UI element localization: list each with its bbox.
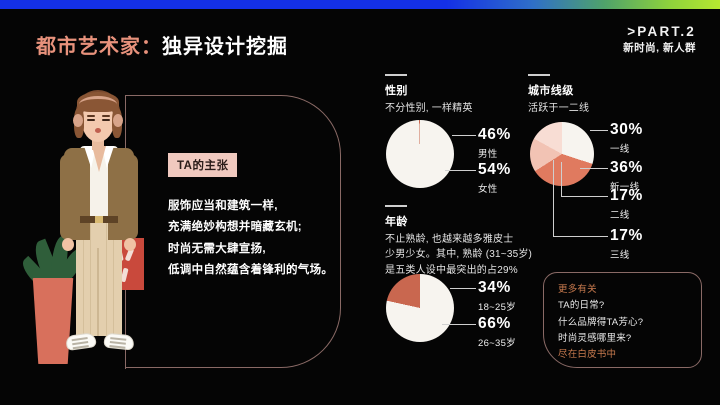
legend-item-age-18-25: 34% 18~25岁: [478, 280, 516, 313]
cta-line: 时尚灵感哪里来?: [558, 331, 701, 347]
leader-line: [580, 168, 608, 169]
stat-subtitle: 不分性别, 一样精英: [385, 101, 535, 117]
page-title: 都市艺术家：独异设计挖掘: [36, 30, 288, 59]
legend-label: 26~35岁: [478, 335, 516, 349]
leader-line: [450, 288, 476, 289]
figure-belt-buckle: [95, 216, 103, 223]
leader-line: [452, 135, 476, 136]
figure-jacket-right: [108, 148, 134, 240]
legend-label: 女性: [478, 181, 511, 195]
stat-heading: 年龄: [385, 213, 563, 229]
legend-percent: 54%: [478, 162, 511, 178]
quote-line: 时尚无需大肆宣扬,: [168, 239, 358, 260]
title-rest: 独异设计挖掘: [162, 36, 288, 58]
legend-label: 男性: [478, 146, 511, 160]
legend-label: 18~25岁: [478, 299, 516, 313]
cta-line: 尽在白皮书中: [558, 347, 701, 363]
legend-percent: 30%: [610, 122, 643, 138]
legend-item-gender-female: 54% 女性: [478, 162, 511, 195]
figure-hand-right: [124, 238, 136, 251]
legend-percent: 36%: [610, 160, 643, 176]
legend-percent: 34%: [478, 280, 516, 296]
slide-canvas: 都市艺术家：独异设计挖掘 >PART.2 新时尚, 新人群: [0, 0, 720, 405]
leader-line: [561, 196, 608, 197]
figure-eye-right: [102, 119, 110, 121]
legend-percent: 17%: [610, 188, 643, 204]
divider: [528, 74, 550, 76]
stat-heading: 性别: [385, 82, 535, 98]
leader-line: [590, 130, 608, 131]
stat-subtitle: 活跃于一二线: [528, 101, 688, 117]
cta-question-box: 更多有关 TA的日常? 什么品牌得TA芳心? 时尚灵感哪里来? 尽在白皮书中: [543, 272, 702, 368]
quote-line: 充满绝妙构想并暗藏玄机;: [168, 217, 358, 238]
legend-item-tier-2: 17% 二线: [610, 188, 643, 221]
legend-item-tier-3: 17% 三线: [610, 228, 643, 261]
stat-subtitle-line: 不止熟龄, 也越来越多雅皮士: [385, 232, 563, 248]
cta-line: 更多有关: [558, 282, 701, 298]
cta-line: 什么品牌得TA芳心?: [558, 315, 701, 331]
top-gradient-bar: [0, 0, 720, 9]
title-highlight: 都市艺术家：: [36, 36, 162, 58]
legend-item-age-26-35: 66% 26~35岁: [478, 316, 516, 349]
pie-chart-gender: [386, 120, 454, 188]
legend-item-tier-1: 30% 一线: [610, 122, 643, 155]
persona-badge: TA的主张: [168, 153, 237, 177]
divider: [385, 205, 407, 207]
quote-line: 服饰应当和建筑一样,: [168, 196, 358, 217]
figure-jacket-left: [64, 148, 90, 240]
headphone-cup-right-icon: [113, 114, 123, 127]
pie-chart-city-tier: [530, 122, 594, 186]
headphone-cup-left-icon: [73, 114, 83, 127]
stat-block-city-tier: 城市线级 活跃于一二线: [528, 74, 688, 116]
figure-brow-right: [102, 115, 110, 117]
persona-illustration: [18, 88, 168, 373]
stat-heading: 城市线级: [528, 82, 688, 98]
leader-line: [442, 324, 476, 325]
stat-subtitle-line: 少男少女。其中, 熟龄 (31~35岁): [385, 247, 563, 263]
legend-percent: 17%: [610, 228, 643, 244]
divider: [385, 74, 407, 76]
pie-chart-age: [386, 274, 454, 342]
persona-figure: [46, 88, 156, 373]
figure-mouth: [95, 128, 101, 133]
leader-line: [445, 170, 476, 171]
persona-quote: 服饰应当和建筑一样, 充满绝妙构想并暗藏玄机; 时尚无需大肆宣扬, 低调中自然蕴…: [168, 196, 358, 281]
figure-brow-left: [87, 115, 95, 117]
legend-item-gender-male: 46% 男性: [478, 127, 511, 160]
figure-hand-left: [62, 238, 74, 251]
legend-label: 一线: [610, 141, 643, 155]
legend-percent: 46%: [478, 127, 511, 143]
part-label: >PART.2: [623, 24, 696, 41]
quote-line: 低调中自然蕴含着锋利的气场。: [168, 260, 358, 281]
stat-block-gender: 性别 不分性别, 一样精英: [385, 74, 535, 116]
legend-percent: 66%: [478, 316, 516, 332]
legend-label: 二线: [610, 207, 643, 221]
figure-eye-left: [87, 119, 95, 121]
section-marker: >PART.2 新时尚, 新人群: [623, 24, 696, 55]
headphone-band-icon: [79, 96, 117, 113]
legend-label: 三线: [610, 247, 643, 261]
stat-block-age: 年龄 不止熟龄, 也越来越多雅皮士 少男少女。其中, 熟龄 (31~35岁) 是…: [385, 205, 563, 278]
part-subtitle: 新时尚, 新人群: [623, 42, 696, 55]
figure-shoe-right: [103, 332, 134, 350]
cta-line: TA的日常?: [558, 298, 701, 314]
leader-line: [561, 162, 562, 196]
figure-shoe-left: [65, 332, 97, 351]
